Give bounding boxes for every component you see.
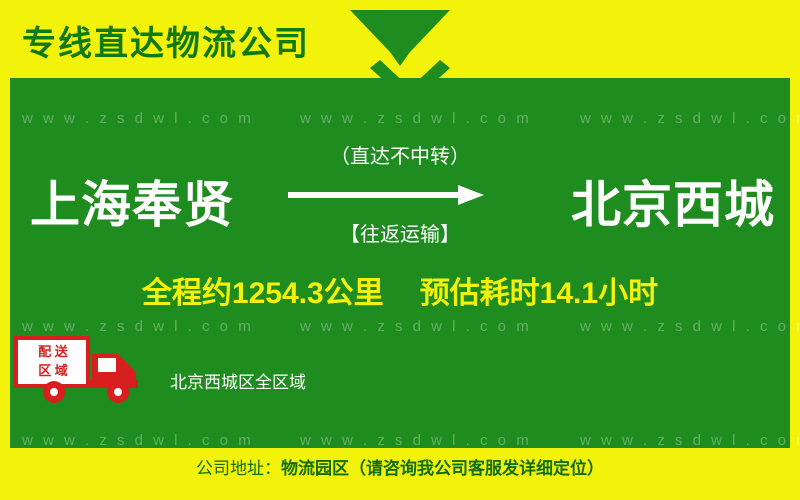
route-bottom-label: 【往返运输】 (300, 218, 500, 247)
footer-address-value: 物流园区（请咨询我公司客服发详细定位） (281, 459, 604, 478)
bottom-yellow-band: 公司地址：物流园区（请咨询我公司客服发详细定位） (10, 448, 790, 490)
delivery-badge-line1: 配 送 (22, 342, 84, 361)
watermark-text: w w w . z s d w l . c o m (300, 110, 532, 127)
watermark-text: w w w . z s d w l . c o m (22, 110, 254, 127)
logistics-banner: w w w . z s d w l . c o m w w w . z s d … (0, 0, 800, 500)
delivery-truck-icon: 配 送 区 域 (14, 330, 164, 410)
bidirectional-arrow-icon (288, 178, 488, 214)
watermark-text: w w w . z s d w l . c o m (580, 110, 800, 127)
delivery-badge-line2: 区 域 (22, 361, 84, 380)
watermark-text: w w w . z s d w l . c o m (300, 318, 532, 335)
destination-city: 北京西城 (571, 165, 775, 237)
footer-address: 公司地址：物流园区（请咨询我公司客服发详细定位） (10, 448, 790, 490)
chevron-stroke-icon (370, 10, 450, 106)
distance-text: 全程约1254.3公里 (142, 277, 384, 310)
watermark-text: w w w . z s d w l . c o m (580, 432, 800, 449)
watermark-text: w w w . z s d w l . c o m (580, 318, 800, 335)
duration-text: 预估耗时14.1小时 (420, 277, 658, 310)
watermark-text: w w w . z s d w l . c o m (22, 432, 254, 449)
route-stats: 全程约1254.3公里预估耗时14.1小时 (0, 268, 800, 312)
watermark-text: w w w . z s d w l . c o m (300, 432, 532, 449)
footer-address-label: 公司地址： (196, 459, 281, 478)
origin-city: 上海奉贤 (30, 165, 234, 237)
banner-headline: 专线直达物流公司 (22, 14, 310, 74)
route-top-label: （直达不中转） (300, 140, 500, 169)
delivery-area-text: 北京西城区全区域 (170, 368, 306, 393)
